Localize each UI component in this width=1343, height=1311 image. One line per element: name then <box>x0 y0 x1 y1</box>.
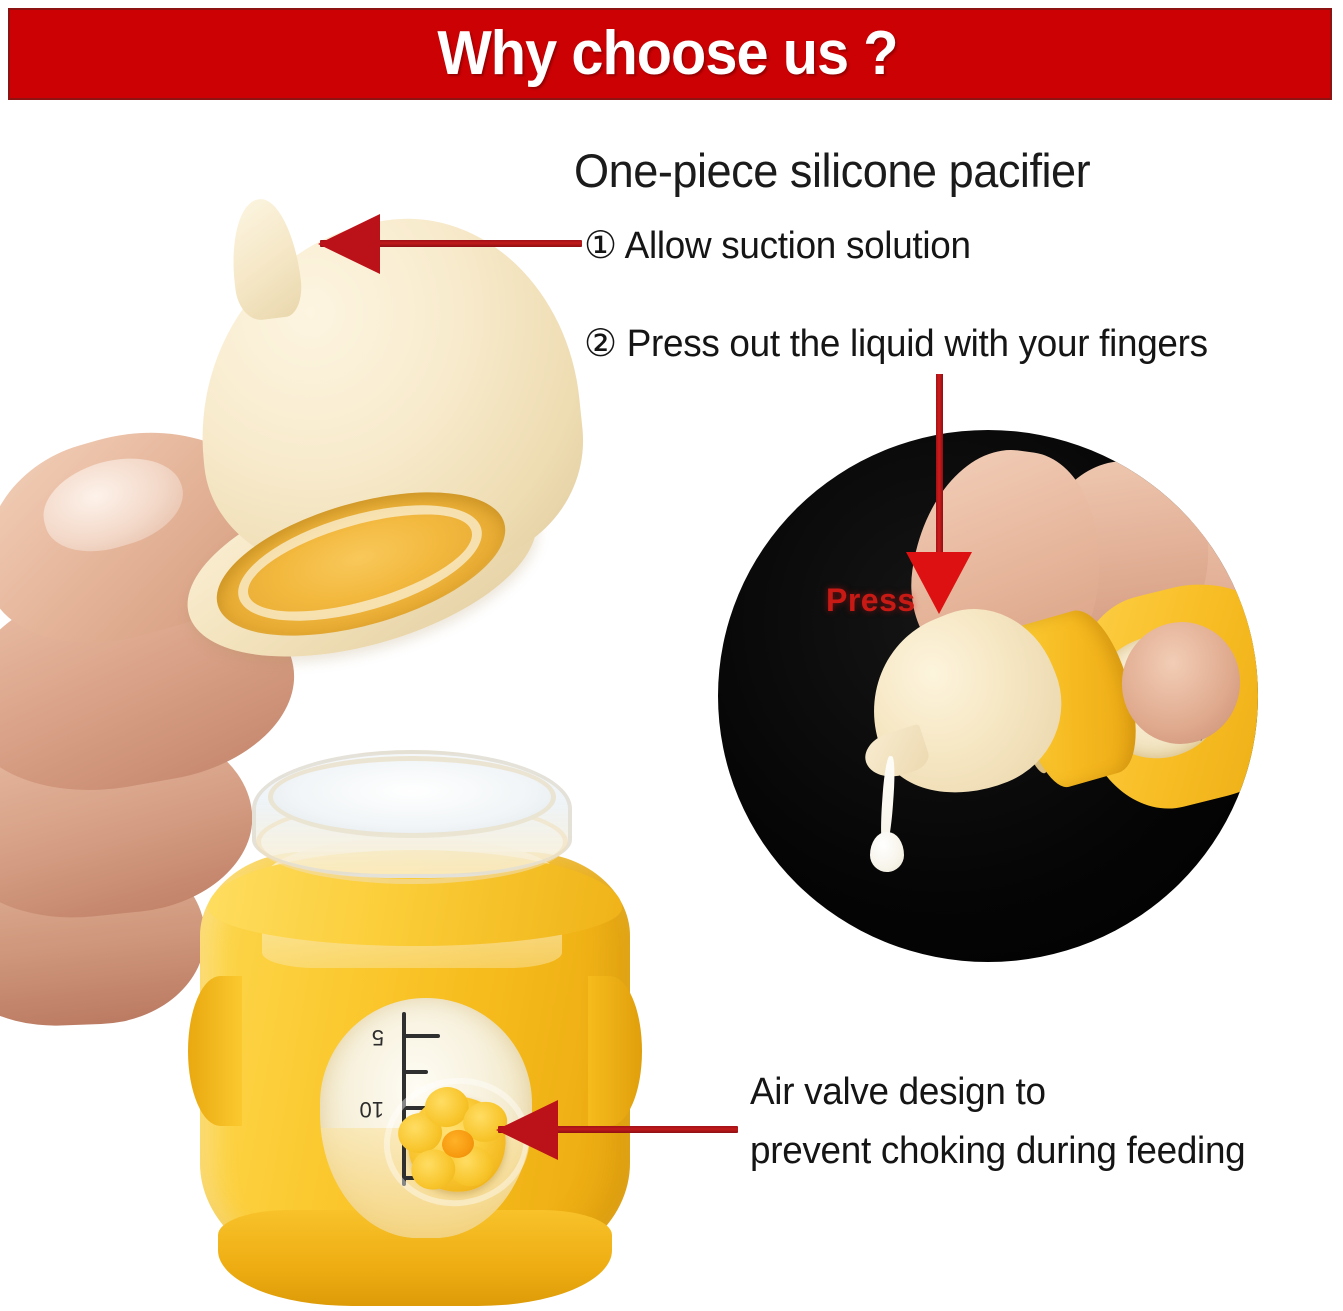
step-2-text: ② Press out the liquid with your fingers <box>584 321 1208 366</box>
arrow-head <box>318 214 380 274</box>
air-valve-caption: Air valve design to prevent choking duri… <box>750 1063 1245 1181</box>
scale-label-10: 10 <box>360 1096 384 1122</box>
pacifier-nipple-tip <box>225 195 305 322</box>
press-label: Press <box>826 582 916 619</box>
headline: One-piece silicone pacifier <box>574 143 1090 198</box>
step-1-text: ① Allow suction solution <box>584 223 971 268</box>
scale-tick <box>404 1034 440 1038</box>
milk-drop <box>870 832 904 872</box>
pacifier-in-hand-photo <box>0 185 620 825</box>
arrow-head <box>906 552 972 614</box>
scale-label-5: 5 <box>372 1024 384 1050</box>
page-title: Why choose us ? <box>437 23 897 85</box>
bottle-photo: 3 10 5 2 <box>180 740 660 1311</box>
air-valve-caption-line2: prevent choking during feeding <box>750 1122 1245 1181</box>
bottle-waist-right <box>588 976 642 1126</box>
bottle-waist-left <box>188 976 242 1126</box>
press-demo-inset: 30 ml 4 12 Press <box>718 430 1258 962</box>
air-valve-caption-line1: Air valve design to <box>750 1063 1245 1122</box>
infographic-canvas: Why choose us ? <box>0 0 1343 1311</box>
arrow-head <box>496 1100 558 1160</box>
bottle-mouth-opening <box>268 756 556 838</box>
scale-tick <box>404 1070 428 1074</box>
header-banner: Why choose us ? <box>8 8 1332 100</box>
arrow-shaft <box>936 374 943 560</box>
